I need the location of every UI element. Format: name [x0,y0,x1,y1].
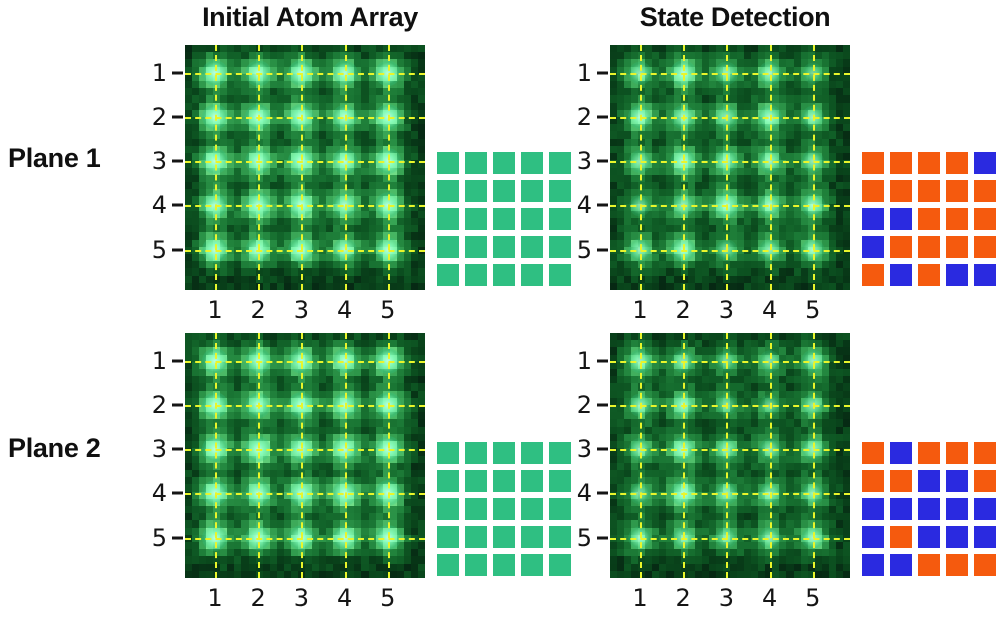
state-cell-green-r2-c2 [465,180,487,202]
state-cell-orange-r1-c1 [862,152,884,174]
state-cell-green-r3-c2 [465,208,487,230]
noise-field [185,45,425,290]
row-label-plane-2: Plane 2 [8,433,100,464]
y-tick-mark-4 [172,492,183,495]
x-tick-label-5: 5 [375,296,401,324]
plane1-state-image: 1234512345 [610,45,850,290]
y-tick-mark-5 [172,248,183,251]
x-tick-label-4: 4 [757,584,783,612]
state-cell-green-r2-c1 [437,470,459,492]
y-tick-mark-1 [597,360,608,363]
state-cell-orange-r2-c5 [974,470,996,492]
state-cell-green-r4-c2 [465,236,487,258]
x-tick-label-1: 1 [202,296,228,324]
x-tick-label-3: 3 [713,584,739,612]
x-tick-label-4: 4 [332,296,358,324]
x-tick-label-2: 2 [670,296,696,324]
state-cell-orange-r3-c5 [974,208,996,230]
y-tick-label-5: 5 [141,524,167,552]
y-tick-label-2: 2 [566,103,592,131]
plane1-initial-image: 1234512345 [185,45,425,290]
state-cell-green-r1-c5 [549,152,571,174]
state-cell-blue-r5-c4 [946,264,968,286]
state-cell-green-r4-c3 [493,526,515,548]
state-cell-blue-r5-c1 [862,554,884,576]
state-grid-plane1-state [862,152,996,286]
state-cell-green-r5-c3 [493,554,515,576]
y-tick-mark-2 [597,116,608,119]
state-cell-orange-r5-c4 [946,554,968,576]
state-cell-green-r4-c4 [521,236,543,258]
state-cell-orange-r5-c3 [918,554,940,576]
state-cell-blue-r3-c1 [862,208,884,230]
state-cell-orange-r2-c1 [862,470,884,492]
state-cell-blue-r3-c2 [890,208,912,230]
state-grid-plane2-state [862,442,996,576]
state-cell-orange-r5-c1 [862,264,884,286]
x-tick-label-1: 1 [202,584,228,612]
figure-root: Initial Atom Array State Detection Plane… [0,0,996,620]
y-tick-mark-3 [172,160,183,163]
state-cell-green-r1-c2 [465,152,487,174]
plane2-initial-image-canvas [185,333,425,578]
x-tick-label-1: 1 [627,584,653,612]
plane2-state-image: 1234512345 [610,333,850,578]
column-title-state-detection: State Detection [585,2,885,33]
state-cell-green-r3-c1 [437,208,459,230]
state-cell-orange-r2-c2 [890,180,912,202]
state-cell-green-r4-c3 [493,236,515,258]
x-tick-label-3: 3 [288,296,314,324]
state-cell-orange-r1-c4 [946,152,968,174]
state-cell-green-r3-c2 [465,498,487,520]
y-tick-mark-4 [597,204,608,207]
state-cell-blue-r4-c3 [918,526,940,548]
y-tick-label-3: 3 [141,147,167,175]
x-tick-label-5: 5 [800,584,826,612]
plane2-state-image-canvas [610,333,850,578]
state-cell-green-r2-c3 [493,180,515,202]
y-tick-mark-5 [597,536,608,539]
x-tick-label-3: 3 [713,296,739,324]
y-tick-label-1: 1 [141,347,167,375]
y-tick-mark-5 [172,536,183,539]
y-tick-label-2: 2 [141,391,167,419]
state-cell-orange-r3-c3 [918,208,940,230]
state-cell-green-r2-c1 [437,180,459,202]
state-cell-green-r5-c5 [549,554,571,576]
state-cell-orange-r2-c5 [974,180,996,202]
y-tick-label-1: 1 [566,59,592,87]
state-cell-blue-r4-c4 [946,526,968,548]
x-tick-label-2: 2 [245,584,271,612]
state-cell-green-r4-c2 [465,526,487,548]
y-tick-mark-2 [597,404,608,407]
state-cell-green-r3-c5 [549,208,571,230]
state-cell-green-r1-c3 [493,152,515,174]
state-cell-green-r1-c4 [521,442,543,464]
state-cell-blue-r1-c5 [974,152,996,174]
state-cell-green-r3-c5 [549,498,571,520]
column-title-initial-atom-array: Initial Atom Array [160,2,460,33]
state-cell-green-r2-c4 [521,180,543,202]
state-cell-green-r4-c1 [437,236,459,258]
y-tick-mark-1 [597,72,608,75]
state-cell-green-r3-c1 [437,498,459,520]
x-tick-label-4: 4 [757,296,783,324]
plane1-state-image-canvas [610,45,850,290]
state-cell-blue-r4-c1 [862,526,884,548]
y-tick-label-1: 1 [566,347,592,375]
state-cell-orange-r2-c2 [890,470,912,492]
state-cell-orange-r3-c4 [946,208,968,230]
state-cell-green-r5-c5 [549,264,571,286]
y-tick-mark-4 [597,492,608,495]
state-cell-orange-r4-c5 [974,236,996,258]
state-cell-green-r4-c1 [437,526,459,548]
state-cell-orange-r1-c1 [862,442,884,464]
state-grid-plane1-initial [437,152,571,286]
state-cell-blue-r4-c1 [862,236,884,258]
state-cell-green-r1-c3 [493,442,515,464]
state-cell-green-r2-c2 [465,470,487,492]
x-tick-label-5: 5 [375,584,401,612]
y-tick-mark-1 [172,72,183,75]
state-cell-green-r1-c5 [549,442,571,464]
state-cell-green-r1-c1 [437,442,459,464]
state-cell-green-r5-c2 [465,554,487,576]
state-cell-blue-r3-c3 [918,498,940,520]
state-cell-green-r1-c2 [465,442,487,464]
y-tick-label-2: 2 [141,103,167,131]
y-tick-mark-2 [172,404,183,407]
state-cell-orange-r2-c4 [946,180,968,202]
state-cell-green-r1-c1 [437,152,459,174]
state-cell-orange-r1-c2 [890,152,912,174]
y-tick-mark-4 [172,204,183,207]
y-tick-mark-3 [597,160,608,163]
state-cell-blue-r1-c2 [890,442,912,464]
x-tick-label-2: 2 [245,296,271,324]
state-cell-blue-r4-c5 [974,526,996,548]
state-cell-green-r4-c4 [521,526,543,548]
state-cell-blue-r3-c4 [946,498,968,520]
plane1-initial-image-canvas [185,45,425,290]
state-cell-orange-r1-c4 [946,442,968,464]
state-cell-green-r5-c4 [521,264,543,286]
state-cell-green-r1-c4 [521,152,543,174]
state-cell-blue-r3-c1 [862,498,884,520]
state-cell-green-r4-c5 [549,526,571,548]
state-cell-orange-r2-c1 [862,180,884,202]
state-cell-green-r5-c1 [437,554,459,576]
x-tick-label-2: 2 [670,584,696,612]
state-cell-orange-r5-c3 [918,264,940,286]
noise-field [185,333,425,578]
y-tick-label-5: 5 [141,236,167,264]
state-grid-plane2-initial [437,442,571,576]
state-cell-blue-r5-c5 [974,264,996,286]
state-cell-blue-r5-c2 [890,554,912,576]
y-tick-label-3: 3 [141,435,167,463]
state-cell-orange-r2-c3 [918,180,940,202]
state-cell-orange-r5-c5 [974,554,996,576]
state-cell-green-r3-c4 [521,208,543,230]
state-cell-orange-r4-c4 [946,236,968,258]
y-tick-mark-3 [172,448,183,451]
x-tick-label-1: 1 [627,296,653,324]
y-tick-mark-3 [597,448,608,451]
x-tick-label-3: 3 [288,584,314,612]
state-cell-green-r3-c3 [493,208,515,230]
y-tick-mark-5 [597,248,608,251]
state-cell-blue-r2-c4 [946,470,968,492]
y-tick-label-1: 1 [141,59,167,87]
state-cell-green-r5-c3 [493,264,515,286]
y-tick-label-4: 4 [141,191,167,219]
state-cell-green-r2-c3 [493,470,515,492]
state-cell-green-r4-c5 [549,236,571,258]
state-cell-orange-r1-c3 [918,152,940,174]
state-cell-green-r2-c4 [521,470,543,492]
state-cell-orange-r4-c2 [890,236,912,258]
state-cell-blue-r2-c3 [918,470,940,492]
state-cell-orange-r1-c3 [918,442,940,464]
plane2-initial-image: 1234512345 [185,333,425,578]
y-tick-mark-1 [172,360,183,363]
row-label-plane-1: Plane 1 [8,143,100,174]
state-cell-green-r5-c1 [437,264,459,286]
state-cell-green-r5-c2 [465,264,487,286]
state-cell-orange-r4-c3 [918,236,940,258]
y-tick-mark-2 [172,116,183,119]
state-cell-blue-r3-c2 [890,498,912,520]
x-tick-label-4: 4 [332,584,358,612]
state-cell-orange-r4-c2 [890,526,912,548]
state-cell-blue-r5-c2 [890,264,912,286]
noise-field [610,45,850,290]
state-cell-green-r3-c4 [521,498,543,520]
noise-field [610,333,850,578]
state-cell-orange-r1-c5 [974,442,996,464]
state-cell-blue-r3-c5 [974,498,996,520]
state-cell-green-r5-c4 [521,554,543,576]
state-cell-green-r3-c3 [493,498,515,520]
y-tick-label-4: 4 [141,479,167,507]
state-cell-green-r2-c5 [549,470,571,492]
x-tick-label-5: 5 [800,296,826,324]
state-cell-green-r2-c5 [549,180,571,202]
y-tick-label-2: 2 [566,391,592,419]
